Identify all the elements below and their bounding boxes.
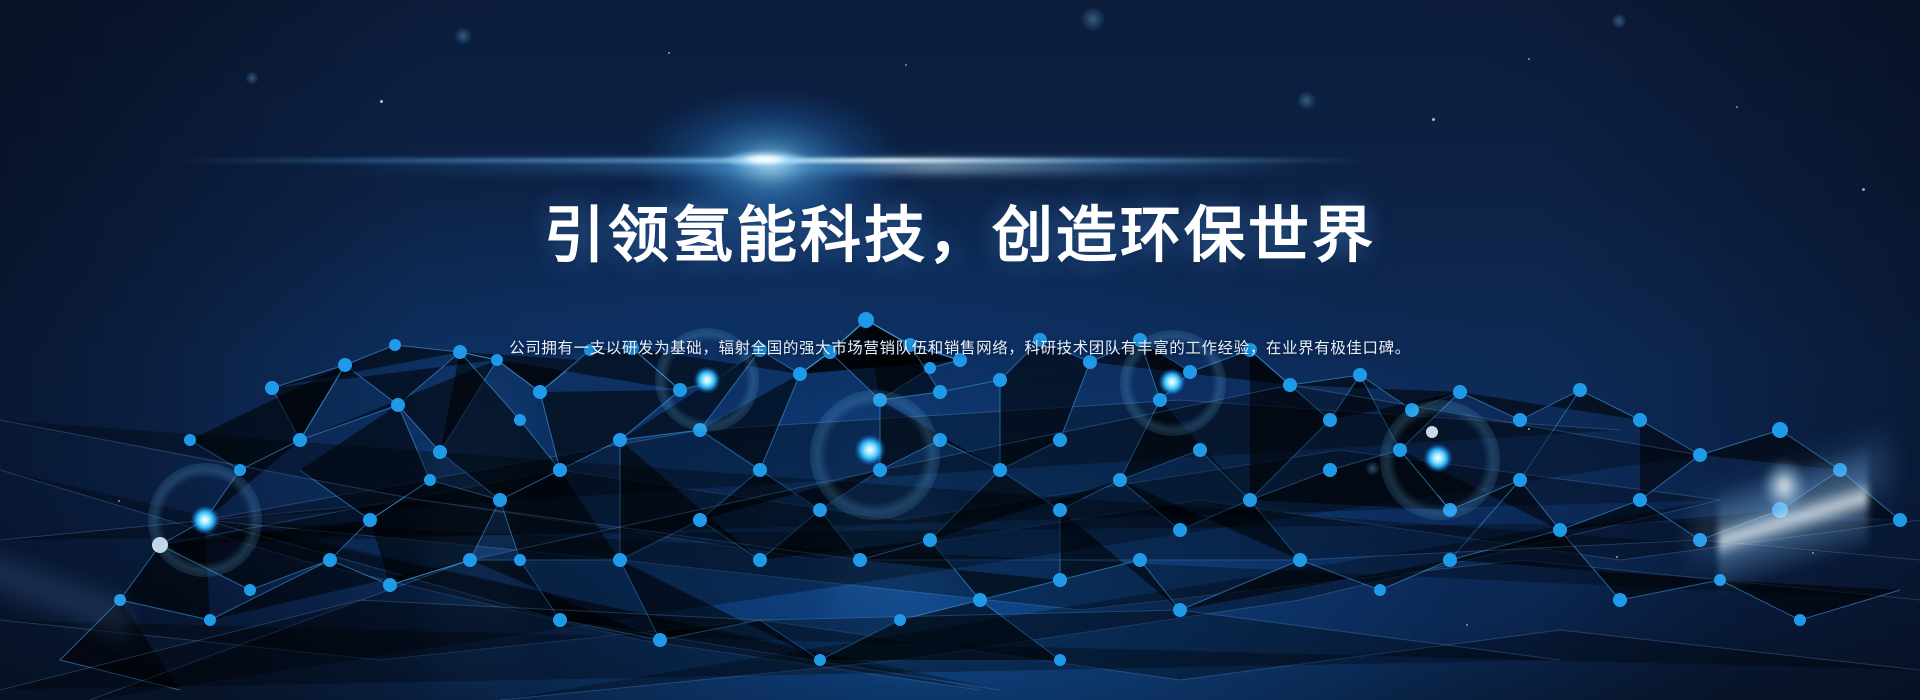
glow-node-right xyxy=(1159,369,1185,395)
spark-particle xyxy=(1812,552,1814,554)
spark-particle xyxy=(1528,428,1530,430)
spark-particle xyxy=(1862,188,1865,191)
bokeh-particle xyxy=(1366,462,1379,475)
light-beam-right-core xyxy=(1756,452,1812,520)
glow-node-far-right xyxy=(1424,444,1452,472)
bokeh-particle xyxy=(1298,92,1315,109)
page-title: 引领氢能科技，创造环保世界 xyxy=(0,200,1920,270)
hero-banner: 引领氢能科技，创造环保世界 公司拥有一支以研发为基础，辐射全国的强大市场营销队伍… xyxy=(0,0,1920,700)
bokeh-particle xyxy=(455,28,471,44)
spark-particle xyxy=(1432,118,1435,121)
glow-node-left xyxy=(191,506,219,534)
bokeh-particle xyxy=(1612,14,1626,28)
bokeh-particle xyxy=(1082,8,1104,30)
spark-particle xyxy=(118,500,120,502)
spark-particle xyxy=(668,52,670,54)
glow-node-center xyxy=(855,435,885,465)
spark-particle xyxy=(905,64,907,66)
page-subtitle: 公司拥有一支以研发为基础，辐射全国的强大市场营销队伍和销售网络，科研技术团队有丰… xyxy=(0,336,1920,358)
spark-particle xyxy=(1736,106,1738,108)
spark-particle xyxy=(380,100,383,103)
light-beam-left xyxy=(0,470,130,700)
glow-node-mid xyxy=(694,367,720,393)
network-lines xyxy=(0,320,1920,700)
spark-particle xyxy=(1466,624,1468,626)
spark-particle xyxy=(1528,58,1530,60)
spark-particle xyxy=(1616,556,1618,558)
bokeh-particle xyxy=(246,72,258,84)
